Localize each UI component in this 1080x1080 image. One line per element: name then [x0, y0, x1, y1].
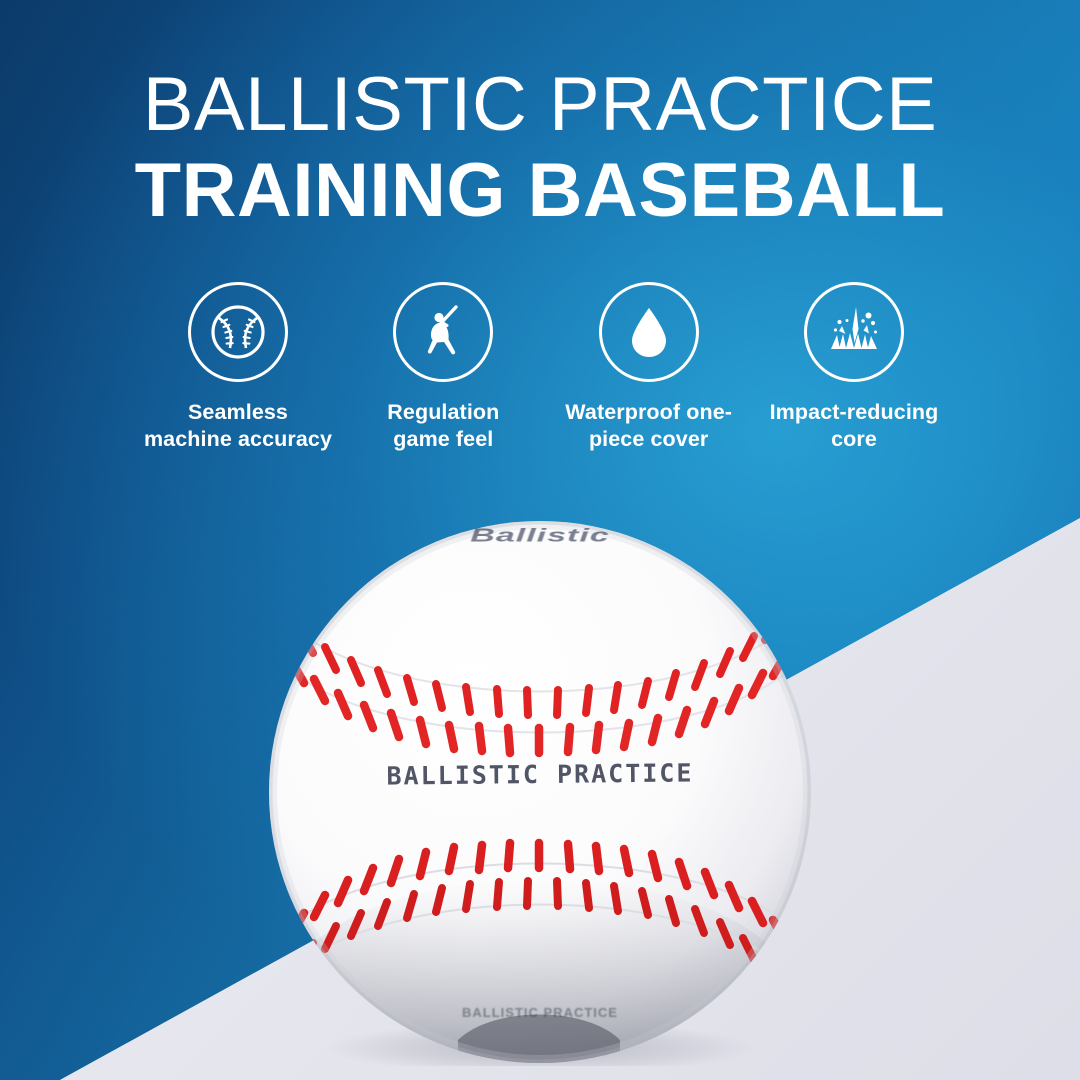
feature-list: Seamlessmachine accuracy Regulationgame …: [140, 282, 952, 453]
impact-splash-icon: [804, 282, 904, 382]
feature-label-regulation: Regulationgame feel: [387, 399, 499, 453]
title-line-1: BALLISTIC PRACTICE: [0, 62, 1080, 148]
title-line-2: TRAINING BASEBALL: [0, 148, 1080, 234]
product-image-baseball: [268, 520, 812, 1066]
baseball-icon: [188, 282, 288, 382]
page-title: BALLISTIC PRACTICE TRAINING BASEBALL: [0, 62, 1080, 234]
water-drop-icon: [599, 282, 699, 382]
feature-item-waterproof: Waterproof one-piece cover: [551, 282, 747, 453]
batter-icon: [393, 282, 493, 382]
feature-item-regulation: Regulationgame feel: [345, 282, 541, 453]
feature-label-impact: Impact-reducingcore: [770, 399, 939, 453]
feature-item-seamless: Seamlessmachine accuracy: [140, 282, 336, 453]
feature-label-seamless: Seamlessmachine accuracy: [144, 399, 332, 453]
feature-item-impact: Impact-reducingcore: [756, 282, 952, 453]
product-infographic: BALLISTIC PRACTICE TRAINING BASEBALL: [0, 0, 1080, 1080]
feature-label-waterproof: Waterproof one-piece cover: [565, 399, 732, 453]
